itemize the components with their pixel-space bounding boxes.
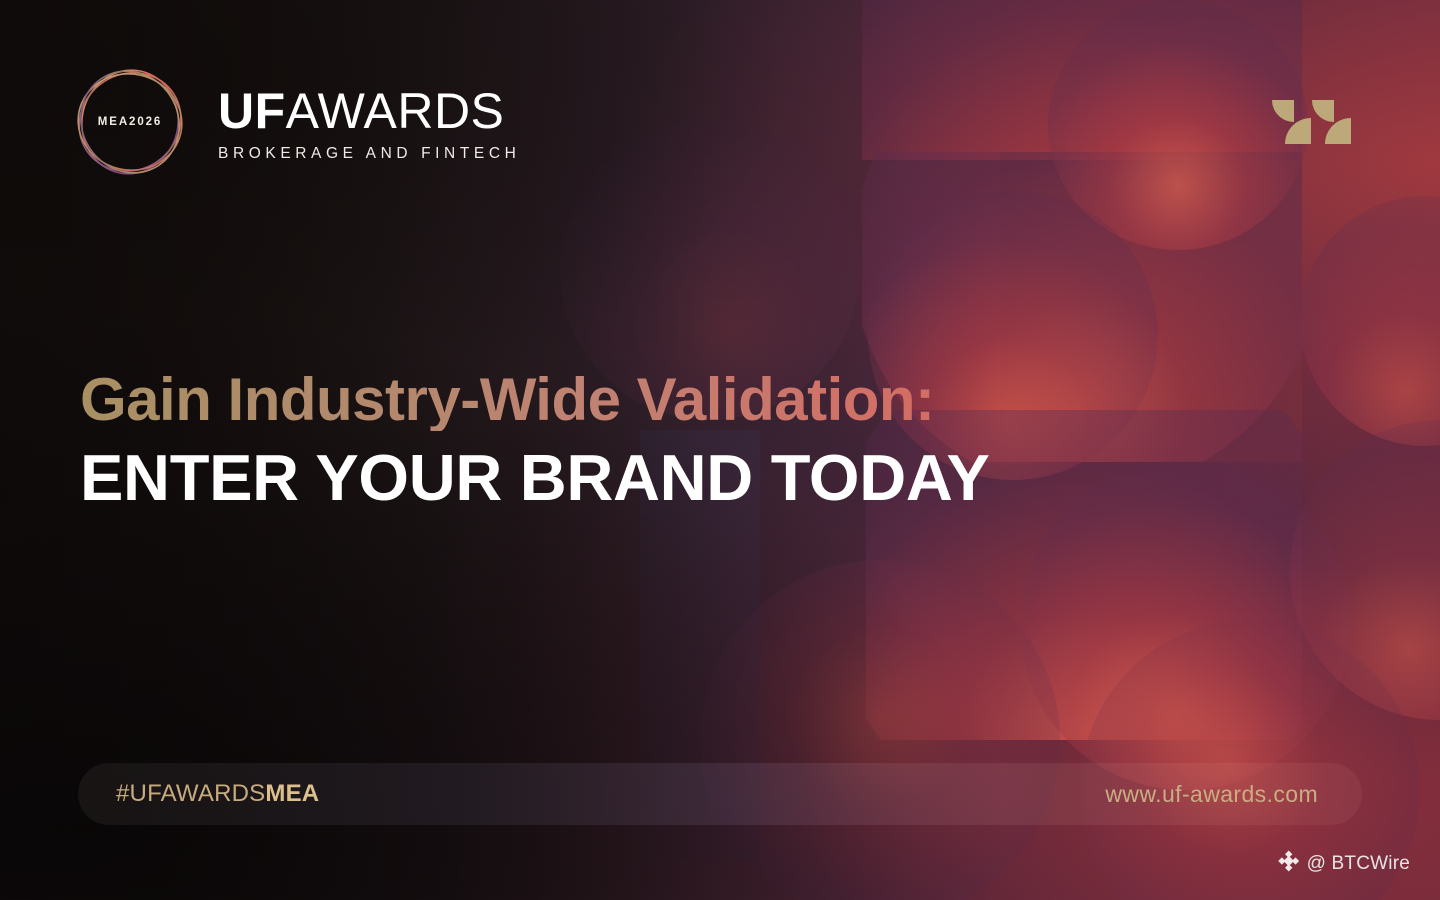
hashtag-prefix: #UFAWARDS [116, 780, 265, 807]
quarter-circle-w-mark-icon [1272, 100, 1352, 148]
logo-year-badge: MEA2026 [64, 116, 196, 128]
hashtag-label: #UFAWARDSMEA [116, 780, 319, 808]
footer-bar: #UFAWARDSMEA www.uf-awards.com [78, 763, 1362, 825]
overlapping-circles-rosette-icon: MEA2026 [64, 52, 196, 192]
wordmark: UFAWARDS BROKERAGE AND FINTECH [218, 82, 520, 163]
btcwire-watermark: @ BTCWire [1276, 849, 1410, 878]
website-url[interactable]: www.uf-awards.com [1105, 781, 1318, 808]
wordmark-awards: AWARDS [286, 83, 505, 139]
headline-line-2: ENTER YOUR BRAND TODAY [80, 444, 1230, 512]
ufawards-logo: MEA2026 UFAWARDS BROKERAGE AND FINTECH [64, 52, 520, 192]
wordmark-tagline: BROKERAGE AND FINTECH [218, 145, 520, 163]
binance-diamond-icon [1276, 849, 1300, 878]
headline-block: Gain Industry-Wide Validation: ENTER YOU… [80, 368, 1230, 512]
headline-line-1: Gain Industry-Wide Validation: [80, 368, 1230, 431]
watermark-label: @ BTCWire [1307, 853, 1410, 875]
wordmark-title: UFAWARDS [218, 86, 520, 136]
hashtag-suffix: MEA [265, 780, 319, 807]
wordmark-uf: UF [218, 83, 286, 139]
promotional-banner: MEA2026 UFAWARDS BROKERAGE AND FINTECH G… [0, 0, 1440, 900]
